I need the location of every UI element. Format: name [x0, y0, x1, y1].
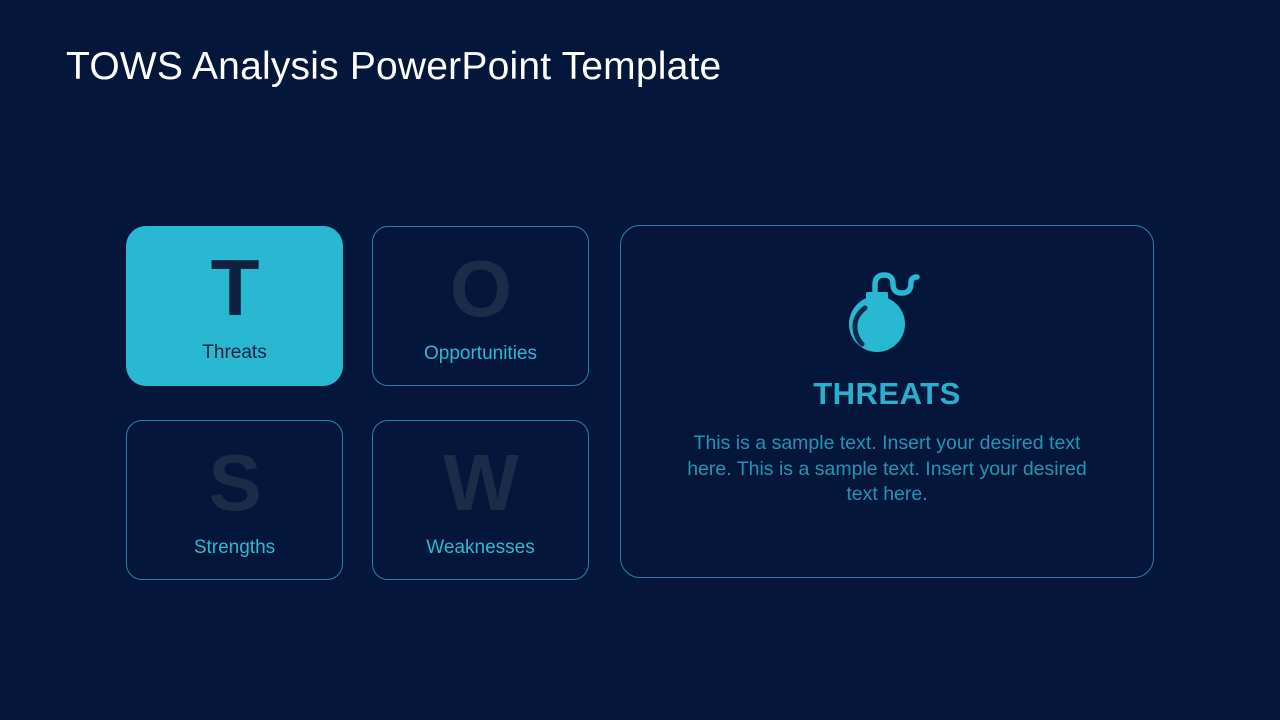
tows-card-letter: W	[443, 443, 518, 523]
tows-card-letter: T	[211, 248, 259, 328]
tows-card-threats[interactable]: T Threats	[126, 226, 343, 386]
detail-body-text: This is a sample text. Insert your desir…	[677, 431, 1097, 508]
tows-card-weaknesses[interactable]: W Weaknesses	[372, 420, 589, 580]
bomb-icon	[841, 268, 933, 354]
tows-card-label: Strengths	[194, 537, 275, 560]
tows-card-label: Threats	[202, 342, 266, 365]
tows-card-label: Opportunities	[424, 343, 537, 366]
page-title: TOWS Analysis PowerPoint Template	[66, 44, 721, 91]
tows-card-letter: S	[208, 443, 260, 523]
detail-panel: THREATS This is a sample text. Insert yo…	[620, 225, 1154, 578]
tows-matrix: T Threats O Opportunities S Strengths W …	[126, 226, 586, 578]
tows-card-strengths[interactable]: S Strengths	[126, 420, 343, 580]
detail-heading: THREATS	[813, 378, 961, 409]
tows-card-opportunities[interactable]: O Opportunities	[372, 226, 589, 386]
tows-card-label: Weaknesses	[426, 537, 534, 560]
tows-card-letter: O	[450, 249, 511, 329]
